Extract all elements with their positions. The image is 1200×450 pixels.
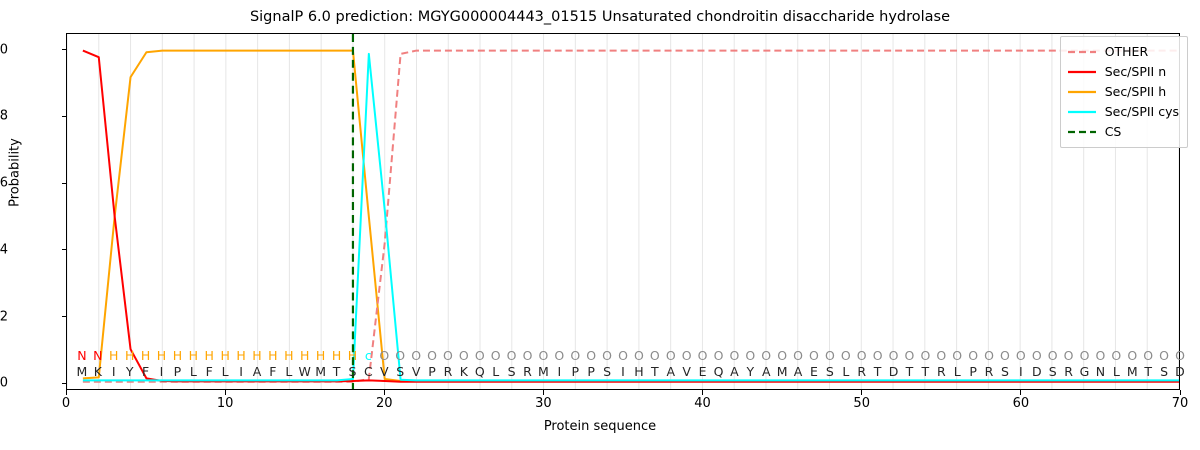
legend-label: Sec/SPII n: [1105, 66, 1166, 79]
cleavage-site-marker: [67, 34, 1179, 389]
x-tick-label: 70: [1150, 396, 1200, 411]
y-tick-label: 1.0: [0, 42, 8, 57]
y-tick-label: 0.0: [0, 376, 8, 391]
legend-item: Sec/SPII h: [1067, 82, 1179, 102]
x-tick-label: 0: [36, 396, 96, 411]
y-tick-label: 0.6: [0, 176, 8, 191]
y-tick-label: 0.2: [0, 309, 8, 324]
legend-item: Sec/SPII n: [1067, 62, 1179, 82]
chart-title: SignalP 6.0 prediction: MGYG000004443_01…: [0, 9, 1200, 25]
x-tick-mark: [1020, 390, 1021, 395]
x-tick-mark: [861, 390, 862, 395]
signalp-prediction-figure: SignalP 6.0 prediction: MGYG000004443_01…: [0, 0, 1200, 450]
protein-sequence-row: MKIYFIPLFLIAFLWMTSCVSVPRKQLSRMIPPSIHTAVE…: [66, 364, 1180, 380]
x-tick-mark: [543, 390, 544, 395]
legend-swatch-icon: [1067, 46, 1097, 58]
y-axis-label: Probability: [8, 53, 23, 293]
x-tick-label: 20: [354, 396, 414, 411]
legend-swatch-icon: [1067, 86, 1097, 98]
x-tick-label: 40: [673, 396, 733, 411]
y-tick-label: 0.4: [0, 242, 8, 257]
x-tick-label: 50: [832, 396, 892, 411]
legend: OTHERSec/SPII nSec/SPII hSec/SPII cysCS: [1060, 36, 1188, 148]
legend-item: Sec/SPII cys: [1067, 102, 1179, 122]
legend-swatch-icon: [1067, 66, 1097, 78]
legend-item: OTHER: [1067, 42, 1179, 62]
x-tick-mark: [1180, 390, 1181, 395]
x-tick-label: 30: [513, 396, 573, 411]
legend-swatch-icon: [1067, 106, 1097, 118]
legend-label: CS: [1105, 126, 1122, 139]
legend-label: Sec/SPII cys: [1105, 106, 1179, 119]
residue-label: D: [1171, 364, 1189, 380]
legend-label: Sec/SPII h: [1105, 86, 1166, 99]
plot-area: [66, 33, 1180, 390]
legend-item: CS: [1067, 122, 1179, 142]
legend-swatch-icon: [1067, 126, 1097, 138]
y-tick-label: 0.8: [0, 109, 8, 124]
x-tick-label: 10: [195, 396, 255, 411]
x-tick-mark: [384, 390, 385, 395]
region-annotation-row: NNHHHHHHHHHHHHHHHHcOOOOOOOOOOOOOOOOOOOOO…: [66, 348, 1180, 364]
x-tick-mark: [225, 390, 226, 395]
x-tick-mark: [702, 390, 703, 395]
x-tick-mark: [66, 390, 67, 395]
x-tick-label: 60: [991, 396, 1051, 411]
legend-label: OTHER: [1105, 46, 1148, 59]
x-axis-label: Protein sequence: [0, 419, 1200, 434]
region-label: O: [1171, 348, 1189, 364]
